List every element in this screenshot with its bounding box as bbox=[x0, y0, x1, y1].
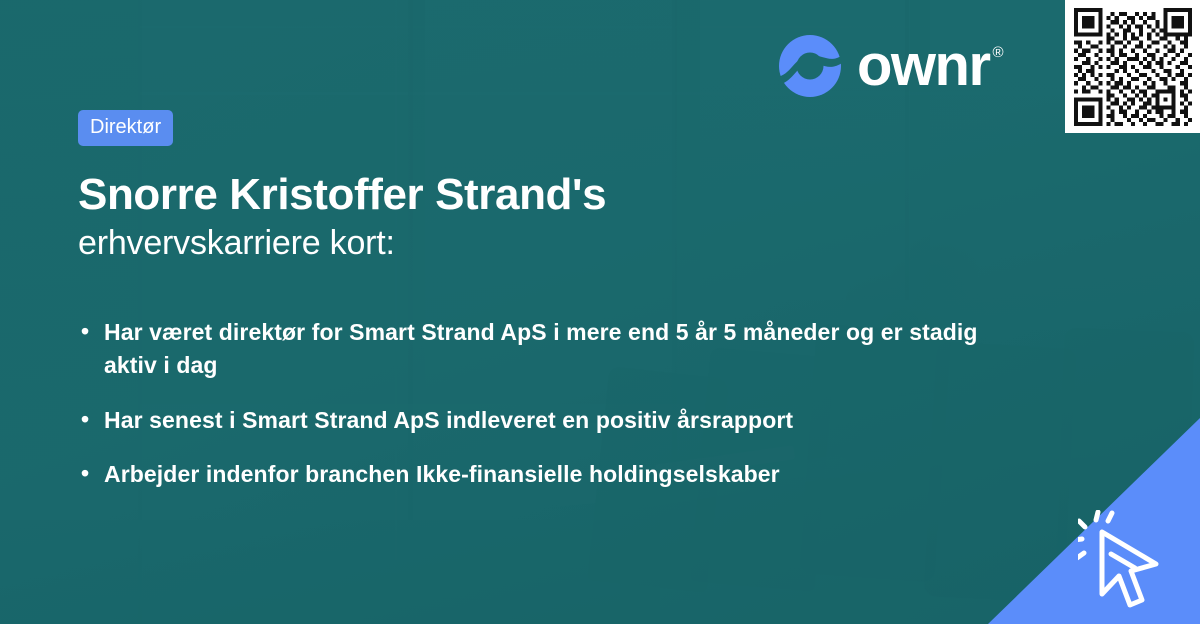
page-subtitle: erhvervskarriere kort: bbox=[78, 223, 978, 264]
list-item: Har senest i Smart Strand ApS indleveret… bbox=[78, 404, 978, 437]
click-cursor-icon bbox=[1078, 510, 1182, 614]
ownr-wordmark: ownr ® bbox=[857, 37, 1004, 95]
list-item: Har været direktør for Smart Strand ApS … bbox=[78, 316, 978, 383]
role-badge: Direktør bbox=[78, 110, 173, 146]
card-content: Direktør Snorre Kristoffer Strand's erhv… bbox=[78, 110, 978, 512]
career-facts-list: Har været direktør for Smart Strand ApS … bbox=[78, 316, 978, 491]
logo-text: ownr bbox=[857, 37, 990, 95]
business-card: ownr ® bbox=[0, 0, 1200, 624]
registered-trademark-icon: ® bbox=[993, 45, 1004, 60]
page-title: Snorre Kristoffer Strand's bbox=[78, 170, 978, 219]
ownr-circle-mark bbox=[779, 35, 841, 97]
qr-code-icon bbox=[1074, 8, 1192, 126]
list-item: Arbejder indenfor branchen Ikke-finansie… bbox=[78, 458, 978, 491]
qr-code-panel[interactable] bbox=[1065, 0, 1200, 133]
ownr-logo[interactable]: ownr ® bbox=[779, 35, 1004, 97]
